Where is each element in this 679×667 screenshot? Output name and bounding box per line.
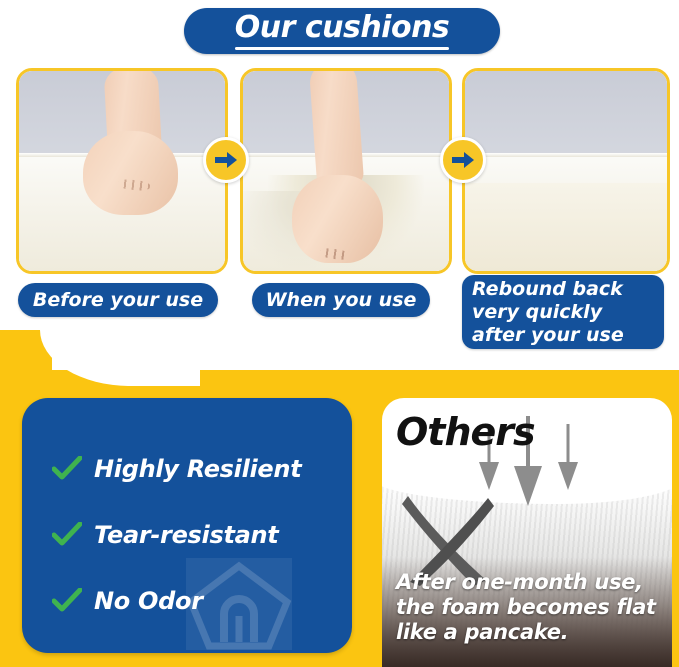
others-title: Others <box>396 410 535 454</box>
title-underline <box>235 47 449 50</box>
feature-label: Highly Resilient <box>94 455 301 483</box>
caption-when-you-use: When you use <box>252 283 430 317</box>
caption-label: When you use <box>266 289 417 311</box>
photo-fist <box>83 131 178 215</box>
demo-photo-row <box>0 68 679 268</box>
caption-line-2: very quickly <box>472 301 602 324</box>
photo-foam-smooth-surface <box>465 183 667 271</box>
others-caption: After one-month use, the foam becomes fl… <box>396 570 668 645</box>
caption-line-3: after your use <box>472 324 624 347</box>
photo-before-use <box>19 71 225 271</box>
arrow-right-icon <box>203 137 249 183</box>
caption-label: Before your use <box>33 289 203 311</box>
others-caption-line-1: After one-month use, <box>396 570 668 595</box>
feature-label: Tear-resistant <box>94 521 278 549</box>
caption-rebound-back: Rebound back very quickly after your use <box>462 275 664 349</box>
page-title: Our cushions <box>235 13 450 43</box>
photo-knuckle-lines <box>319 247 349 261</box>
photo-fist <box>292 175 383 263</box>
check-icon <box>52 456 82 482</box>
photo-when-using <box>243 71 449 271</box>
infographic-canvas: Our cushions <box>0 0 679 667</box>
feature-item: Highly Resilient <box>52 436 332 502</box>
photo-rebounded-foam <box>465 71 667 271</box>
caption-line-1: Rebound back <box>472 278 623 301</box>
page-title-pill: Our cushions <box>184 8 500 54</box>
others-panel: Others After one-month use, the foam bec… <box>382 398 672 667</box>
pentagon-logo-watermark <box>186 558 292 650</box>
photo-forearm <box>309 68 365 189</box>
others-caption-line-3: like a pancake. <box>396 620 668 645</box>
others-caption-line-2: the foam becomes flat <box>396 595 668 620</box>
demo-photo-during <box>240 68 452 274</box>
arrow-right-icon <box>440 137 486 183</box>
photo-knuckle-lines <box>117 178 150 191</box>
photo-foam-edge <box>465 153 667 157</box>
caption-before-your-use: Before your use <box>18 283 218 317</box>
photo-background-wall <box>465 71 667 157</box>
demo-photo-after <box>462 68 670 274</box>
check-icon <box>52 522 82 548</box>
check-icon <box>52 588 82 614</box>
demo-photo-before <box>16 68 228 274</box>
